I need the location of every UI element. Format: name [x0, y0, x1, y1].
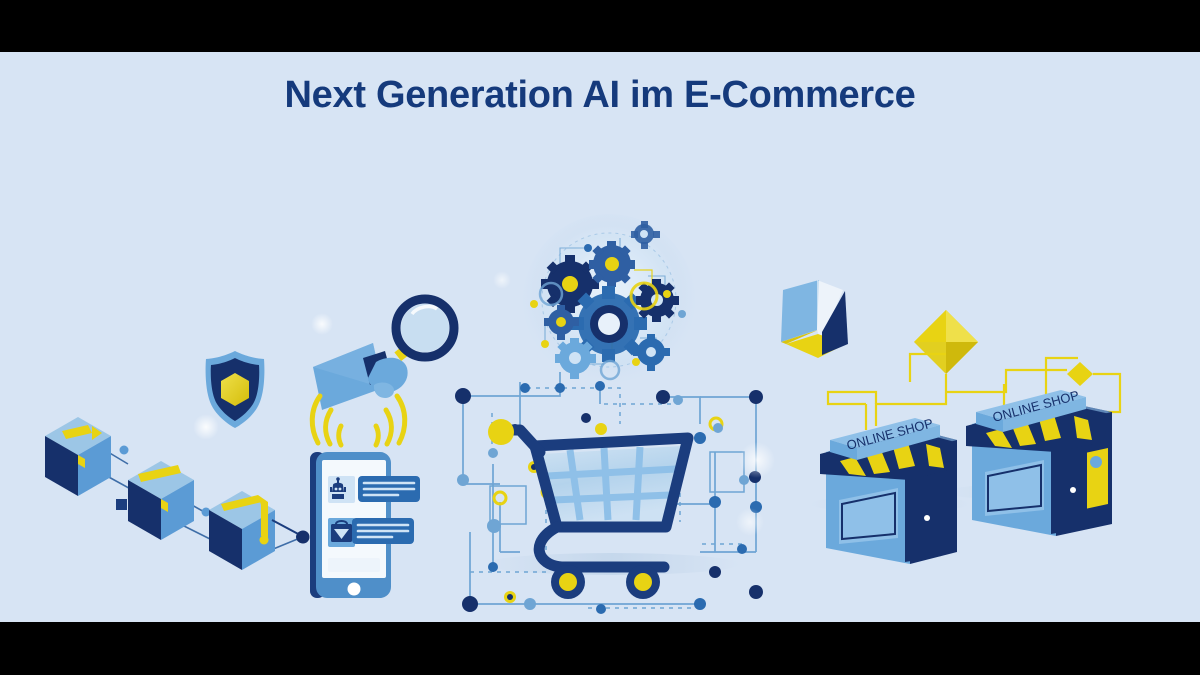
phone-connector [272, 520, 310, 544]
parcel-box [209, 491, 275, 570]
parcel-node-square [116, 499, 127, 510]
shopping-bag-icon [331, 521, 352, 542]
magnifier-hand [313, 299, 454, 410]
parcel-node-dot [120, 446, 129, 455]
parcel-box [45, 417, 111, 496]
cart-wheel [626, 565, 660, 599]
yellow-diamond [914, 310, 978, 374]
illustration-canvas: Next Generation AI im E-Commerce [0, 52, 1200, 622]
letterbox-top [0, 0, 1200, 52]
shop-door-handle[interactable] [1070, 487, 1076, 493]
yellow-diamond-small [1067, 362, 1093, 386]
shop-panel-port [1090, 456, 1102, 468]
letterbox-bottom [0, 622, 1200, 675]
chat-bubble-1 [358, 476, 420, 502]
ai-sphere [523, 214, 695, 386]
screenshot-root: Next Generation AI im E-Commerce [0, 0, 1200, 675]
cart-handle-knob [488, 419, 514, 445]
phone-list-row [328, 558, 380, 572]
parcel-chain [45, 417, 308, 570]
parcel-box [128, 461, 194, 540]
smartphone [272, 396, 420, 598]
chat-bubble-2 [352, 518, 414, 544]
illustration-svg: ONLINE SHOP [0, 52, 1200, 622]
abstract-cube [781, 280, 848, 358]
phone-home-button[interactable] [348, 583, 361, 596]
shop-right: ONLINE SHOP [966, 387, 1112, 536]
shop-left: ONLINE SHOP [820, 415, 957, 564]
signal-arcs-right [376, 396, 405, 445]
shop-door-handle[interactable] [924, 515, 930, 521]
shield [206, 351, 265, 428]
shopping-bag-icon-tile[interactable] [328, 518, 355, 547]
chatbot-icon-tile[interactable] [328, 476, 355, 503]
cart-wheel [551, 565, 585, 599]
